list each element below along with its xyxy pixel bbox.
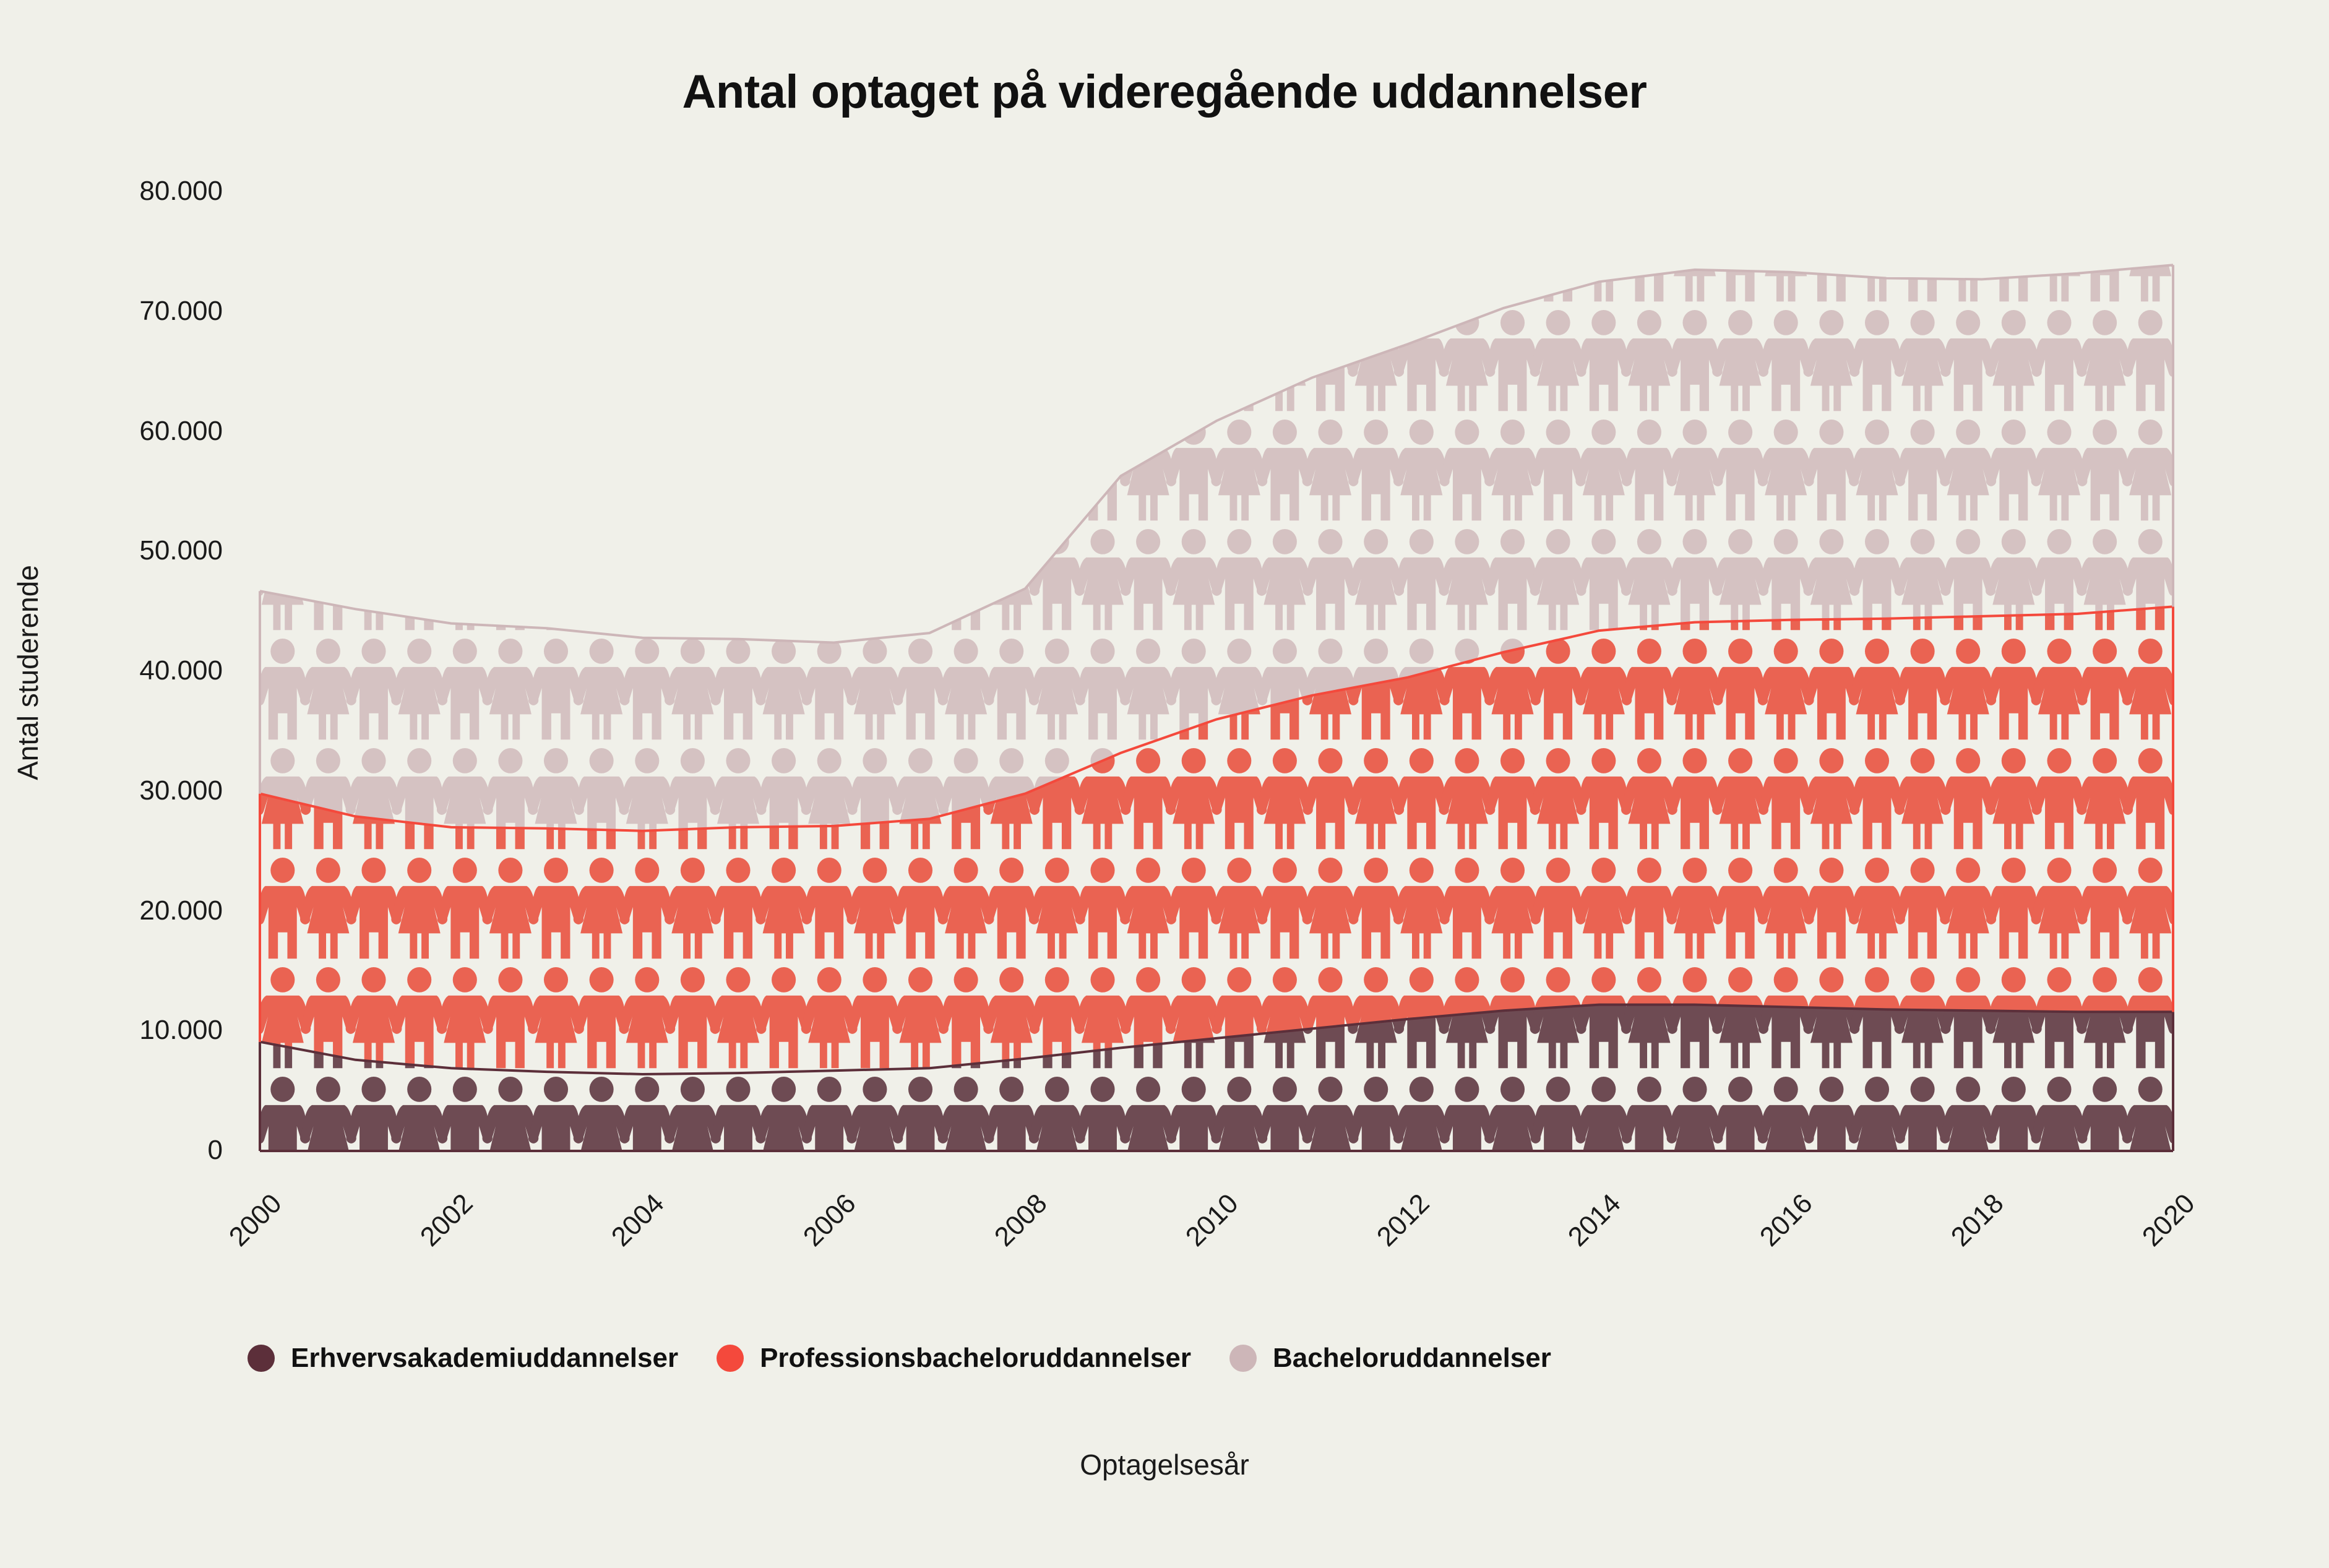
person-icon	[392, 310, 447, 411]
person-icon	[983, 310, 1040, 411]
person-icon	[2077, 748, 2133, 849]
person-icon	[1758, 200, 1814, 301]
person-icon	[2031, 748, 2086, 849]
person-icon	[528, 310, 584, 411]
person-icon	[1849, 420, 1905, 520]
person-icon	[528, 420, 583, 520]
person-icon	[1804, 858, 1859, 958]
person-icon	[1895, 200, 1950, 301]
person-icon	[1439, 420, 1494, 520]
person-icon	[710, 420, 765, 520]
person-icon	[437, 529, 493, 630]
person-icon	[847, 529, 902, 630]
person-icon	[437, 310, 493, 411]
person-icon	[1622, 639, 1677, 739]
person-icon	[1622, 858, 1677, 958]
person-icon	[1485, 748, 1540, 849]
pictogram-area-plot	[0, 0, 2329, 1568]
person-icon	[892, 91, 949, 192]
person-icon	[938, 420, 994, 520]
person-icon	[619, 91, 675, 192]
person-icon	[939, 310, 994, 411]
person-icon	[1667, 1077, 1723, 1178]
person-icon	[1849, 200, 1905, 301]
person-icon	[1895, 639, 1950, 739]
person-icon	[437, 420, 493, 520]
person-icon	[665, 91, 720, 192]
person-icon	[528, 1077, 583, 1178]
person-icon	[483, 529, 538, 630]
person-icon	[1484, 1077, 1541, 1178]
person-icon	[1759, 91, 1814, 192]
person-icon	[847, 310, 902, 411]
person-icon	[301, 529, 356, 630]
person-icon	[938, 420, 994, 520]
person-icon	[574, 310, 629, 411]
person-icon	[756, 639, 812, 739]
person-icon	[1075, 91, 1131, 192]
person-icon	[1531, 420, 1586, 520]
person-icon	[1211, 200, 1267, 301]
person-icon	[710, 529, 767, 630]
person-icon	[483, 748, 538, 849]
person-icon	[756, 1077, 812, 1178]
legend-item[interactable]: Erhvervsakademiuddannelser	[248, 1343, 678, 1374]
person-icon	[437, 91, 493, 192]
person-icon	[756, 420, 812, 520]
person-icon	[1166, 858, 1221, 958]
person-icon	[1895, 91, 1951, 192]
person-icon	[1940, 748, 1995, 849]
person-icon	[1075, 200, 1130, 301]
person-icon	[1348, 91, 1404, 192]
person-icon	[756, 420, 812, 520]
person-icon	[1212, 310, 1267, 411]
person-icon	[847, 91, 902, 192]
legend-label: Erhvervsakademiuddannelser	[291, 1343, 678, 1374]
person-icon	[756, 420, 812, 520]
person-icon	[346, 858, 401, 958]
person-icon	[756, 748, 811, 849]
person-icon	[528, 91, 584, 192]
person-icon	[938, 200, 994, 301]
person-icon	[1485, 91, 1540, 192]
person-icon	[801, 748, 858, 849]
person-icon	[254, 310, 311, 411]
person-icon	[983, 310, 1040, 411]
person-icon	[574, 91, 629, 192]
person-icon	[1713, 639, 1768, 739]
person-icon	[483, 529, 538, 630]
person-icon	[1986, 858, 2041, 958]
person-icon	[1029, 200, 1085, 301]
person-icon	[1348, 310, 1404, 411]
person-icon	[254, 529, 311, 630]
person-icon	[1257, 529, 1313, 630]
person-icon	[802, 639, 857, 739]
person-icon	[574, 200, 630, 301]
person-icon	[801, 91, 858, 192]
person-icon	[391, 420, 447, 520]
person-icon	[1393, 1077, 1450, 1178]
person-icon	[756, 91, 811, 192]
person-icon	[1393, 858, 1450, 958]
person-icon	[1667, 200, 1723, 301]
person-icon	[1075, 639, 1130, 739]
person-icon	[1348, 967, 1404, 1068]
person-icon	[665, 639, 721, 739]
person-icon	[1029, 420, 1085, 520]
person-icon	[801, 529, 858, 630]
person-icon	[710, 310, 767, 411]
person-icon	[574, 310, 629, 411]
person-icon	[847, 200, 903, 301]
person-icon	[255, 200, 310, 301]
person-icon	[346, 310, 402, 411]
person-icon	[437, 748, 493, 849]
person-icon	[574, 310, 629, 411]
person-icon	[1393, 420, 1450, 520]
person-icon	[1348, 91, 1404, 192]
person-icon	[1439, 748, 1496, 849]
person-icon	[1940, 200, 1996, 301]
person-icon	[756, 310, 811, 411]
person-icon	[391, 200, 447, 301]
person-icon	[983, 529, 1040, 630]
person-icon	[847, 748, 902, 849]
person-icon	[847, 200, 903, 301]
person-icon	[1575, 858, 1632, 958]
person-icon	[437, 420, 493, 520]
person-icon	[346, 310, 402, 411]
person-icon	[619, 310, 675, 411]
person-icon	[1075, 200, 1130, 301]
person-icon	[847, 420, 903, 520]
person-icon	[1712, 91, 1768, 192]
person-icon	[1484, 200, 1541, 301]
person-icon	[1302, 310, 1358, 411]
person-icon	[1804, 200, 1859, 301]
legend-item[interactable]: Professionsbacheloruddannelser	[717, 1343, 1191, 1374]
person-icon	[1940, 1077, 1996, 1178]
person-icon	[1895, 310, 1951, 411]
person-icon	[1576, 529, 1631, 630]
person-icon	[2123, 748, 2178, 849]
person-icon	[1895, 420, 1950, 520]
person-icon	[346, 639, 401, 739]
person-icon	[574, 967, 629, 1068]
person-icon	[1212, 310, 1267, 411]
person-icon	[1667, 639, 1723, 739]
person-icon	[2122, 200, 2179, 301]
legend-item[interactable]: Bacheloruddannelser	[1229, 1343, 1551, 1374]
person-icon	[1712, 91, 1768, 192]
person-icon	[1120, 200, 1176, 301]
person-icon	[1576, 91, 1631, 192]
person-icon	[1302, 200, 1359, 301]
person-icon	[1531, 639, 1586, 739]
person-icon	[1804, 91, 1860, 192]
person-icon	[528, 529, 584, 630]
person-icon	[1348, 200, 1403, 301]
person-icon	[1166, 200, 1221, 301]
person-icon	[1986, 748, 2042, 849]
person-icon	[2122, 858, 2179, 958]
person-icon	[665, 529, 720, 630]
person-icon	[619, 91, 675, 192]
person-icon	[2077, 420, 2132, 520]
person-icon	[1986, 200, 2041, 301]
person-icon	[437, 310, 493, 411]
person-icon	[1713, 200, 1768, 301]
person-icon	[1075, 91, 1131, 192]
person-icon	[1713, 858, 1768, 958]
person-icon	[255, 420, 310, 520]
person-icon	[300, 639, 356, 739]
person-icon	[1439, 1077, 1494, 1178]
person-icon	[939, 91, 994, 192]
person-icon	[1758, 1077, 1814, 1178]
person-icon	[665, 310, 720, 411]
person-icon	[1621, 748, 1677, 849]
person-icon	[346, 967, 402, 1068]
person-icon	[619, 420, 674, 520]
person-icon	[1759, 748, 1814, 849]
person-icon	[619, 420, 674, 520]
person-icon	[847, 310, 902, 411]
person-icon	[1393, 200, 1450, 301]
person-icon	[346, 200, 401, 301]
person-icon	[1621, 91, 1677, 192]
person-icon	[1257, 639, 1312, 739]
person-icon	[802, 420, 857, 520]
person-icon	[665, 420, 721, 520]
person-icon	[1531, 200, 1586, 301]
person-icon	[1166, 310, 1222, 411]
person-icon	[1302, 529, 1358, 630]
person-icon	[1759, 91, 1814, 192]
person-icon	[710, 200, 765, 301]
person-icon	[665, 310, 720, 411]
person-icon	[665, 1077, 721, 1178]
person-icon	[1075, 529, 1131, 630]
person-icon	[1895, 529, 1951, 630]
person-icon	[391, 420, 447, 520]
person-icon	[1302, 200, 1359, 301]
person-icon	[1667, 91, 1722, 192]
person-icon	[1439, 310, 1496, 411]
person-icon	[1030, 91, 1085, 192]
person-icon	[665, 200, 721, 301]
person-icon	[2122, 420, 2179, 520]
person-icon	[1348, 420, 1403, 520]
person-icon	[1940, 91, 1995, 192]
person-icon	[665, 420, 721, 520]
person-icon	[983, 91, 1040, 192]
person-icon	[1712, 91, 1768, 192]
person-icon	[1895, 748, 1951, 849]
person-icon	[984, 420, 1039, 520]
person-icon	[710, 858, 765, 958]
person-icon	[1530, 91, 1586, 192]
person-icon	[437, 858, 493, 958]
person-icon	[756, 529, 811, 630]
person-icon	[847, 420, 903, 520]
person-icon	[574, 91, 629, 192]
person-icon	[391, 200, 447, 301]
person-icon	[437, 529, 493, 630]
person-icon	[1120, 200, 1176, 301]
person-icon	[1075, 420, 1130, 520]
person-icon	[528, 200, 583, 301]
person-icon	[483, 91, 538, 192]
person-icon	[619, 858, 674, 958]
person-icon	[1257, 858, 1312, 958]
person-icon	[254, 967, 311, 1068]
person-icon	[2077, 529, 2133, 630]
person-icon	[939, 310, 994, 411]
person-icon	[300, 200, 356, 301]
person-icon	[1302, 967, 1358, 1068]
legend-swatch-icon	[1229, 1345, 1257, 1372]
person-icon	[710, 420, 765, 520]
person-icon	[1712, 310, 1768, 411]
person-icon	[2031, 91, 2086, 192]
person-icon	[1302, 200, 1359, 301]
person-icon	[1667, 858, 1723, 958]
person-icon	[301, 310, 356, 411]
person-icon	[1758, 639, 1814, 739]
person-icon	[300, 200, 356, 301]
person-icon	[1621, 310, 1677, 411]
person-icon	[300, 200, 356, 301]
person-icon	[1257, 200, 1312, 301]
person-icon	[2077, 200, 2132, 301]
person-icon	[528, 91, 584, 192]
person-icon	[1394, 748, 1449, 849]
person-icon	[710, 200, 765, 301]
person-icon	[574, 420, 630, 520]
person-icon	[300, 1077, 356, 1178]
person-icon	[1166, 310, 1222, 411]
person-icon	[801, 529, 858, 630]
person-icon	[2077, 200, 2132, 301]
person-icon	[1120, 200, 1176, 301]
person-icon	[301, 91, 356, 192]
person-icon	[892, 310, 949, 411]
person-icon	[801, 310, 858, 411]
person-icon	[1121, 91, 1176, 192]
person-icon	[1531, 1077, 1586, 1178]
person-icon	[528, 200, 583, 301]
person-icon	[391, 858, 447, 958]
person-icon	[1439, 200, 1494, 301]
person-icon	[1758, 420, 1814, 520]
person-icon	[619, 310, 675, 411]
person-icon	[2122, 639, 2179, 739]
person-icon	[1712, 748, 1768, 849]
person-icon	[710, 91, 767, 192]
person-icon	[756, 91, 811, 192]
person-icon	[1212, 967, 1267, 1068]
person-icon	[665, 748, 720, 849]
person-icon	[1302, 310, 1358, 411]
person-icon	[1622, 200, 1677, 301]
person-icon	[574, 858, 630, 958]
person-icon	[1302, 1077, 1359, 1178]
person-icon	[984, 200, 1039, 301]
person-icon	[619, 1077, 674, 1178]
person-icon	[939, 91, 994, 192]
person-icon	[483, 91, 538, 192]
person-icon	[346, 420, 401, 520]
person-icon	[346, 91, 402, 192]
chart-legend: ErhvervsakademiuddannelserProfessionsbac…	[248, 1343, 1590, 1374]
person-icon	[619, 91, 675, 192]
person-icon	[1120, 639, 1176, 739]
person-icon	[1439, 529, 1496, 630]
person-icon	[1986, 91, 2042, 192]
person-icon	[255, 200, 310, 301]
person-icon	[802, 858, 857, 958]
person-icon	[1986, 91, 2042, 192]
person-icon	[710, 1077, 765, 1178]
person-icon	[1257, 310, 1313, 411]
person-icon	[392, 91, 447, 192]
person-icon	[1257, 1077, 1312, 1178]
person-icon	[1895, 858, 1950, 958]
person-icon	[574, 529, 629, 630]
person-icon	[2122, 200, 2179, 301]
person-icon	[847, 91, 902, 192]
person-icon	[1212, 91, 1267, 192]
person-icon	[1120, 420, 1176, 520]
person-icon	[1576, 91, 1631, 192]
person-icon	[1849, 748, 1905, 849]
person-icon	[1030, 91, 1085, 192]
person-icon	[893, 200, 948, 301]
person-icon	[847, 529, 902, 630]
person-icon	[1667, 420, 1723, 520]
person-icon	[574, 529, 629, 630]
person-icon	[1804, 420, 1859, 520]
person-icon	[2031, 858, 2088, 958]
person-icon	[1166, 200, 1221, 301]
person-icon	[801, 91, 858, 192]
person-icon	[1667, 200, 1723, 301]
person-icon	[437, 200, 493, 301]
person-icon	[847, 639, 903, 739]
person-icon	[1712, 529, 1768, 630]
person-icon	[346, 1077, 401, 1178]
person-icon	[1621, 91, 1677, 192]
person-icon	[1576, 310, 1631, 411]
person-icon	[1394, 91, 1449, 192]
person-icon	[301, 91, 356, 192]
person-icon	[437, 529, 493, 630]
person-icon	[1622, 1077, 1677, 1178]
person-icon	[619, 420, 674, 520]
person-icon	[1075, 91, 1131, 192]
person-icon	[1121, 91, 1176, 192]
person-icon	[756, 529, 811, 630]
person-icon	[1622, 420, 1677, 520]
person-icon	[1212, 91, 1267, 192]
person-icon	[1348, 200, 1403, 301]
person-icon	[254, 91, 311, 192]
person-icon	[1758, 200, 1814, 301]
person-icon	[847, 967, 902, 1068]
